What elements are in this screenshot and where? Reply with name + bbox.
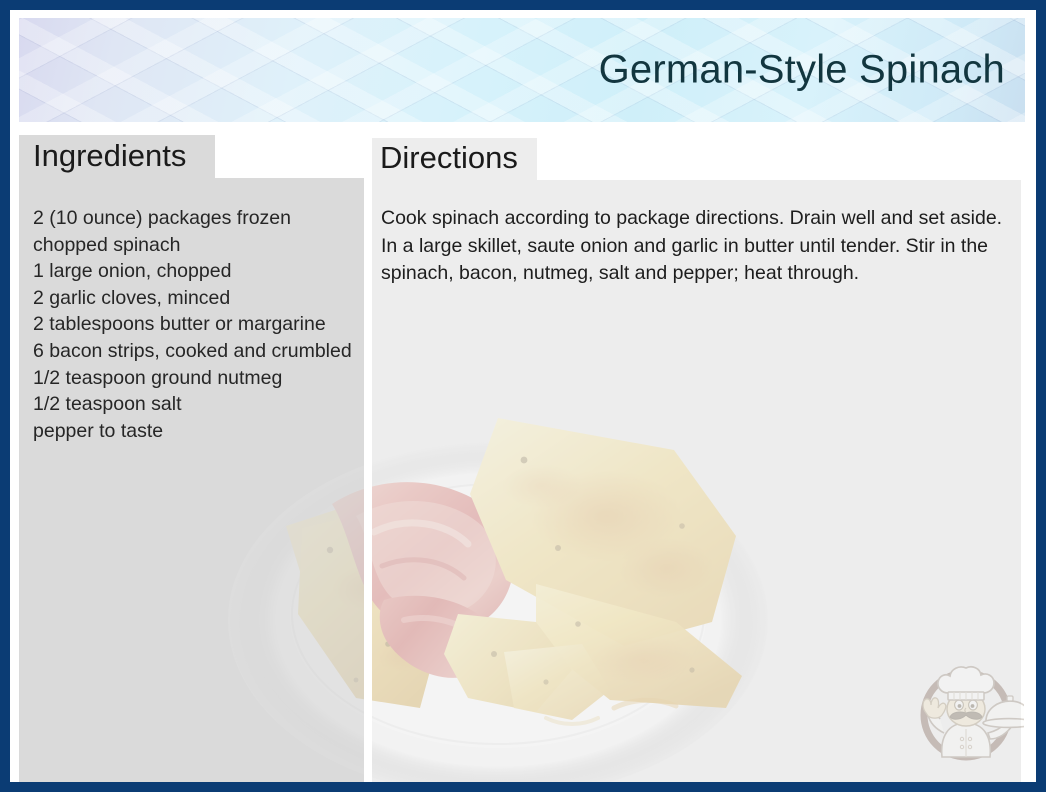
- ingredients-list: 2 (10 ounce) packages frozen chopped spi…: [33, 205, 361, 444]
- directions-body-text: Cook spinach according to package direct…: [381, 205, 1021, 288]
- directions-header-label: Directions: [380, 140, 518, 176]
- ingredient-item: pepper to taste: [33, 418, 361, 445]
- panel-divider: [364, 178, 372, 782]
- ingredient-item: 1 large onion, chopped: [33, 258, 361, 285]
- ingredients-header-box: Ingredients: [19, 135, 215, 178]
- ingredient-item: 2 (10 ounce) packages frozen chopped spi…: [33, 205, 361, 258]
- ingredient-item: 2 tablespoons butter or margarine: [33, 311, 361, 338]
- ingredient-item: 1/2 teaspoon salt: [33, 391, 361, 418]
- slide-inner-canvas: German-Style Spinach: [10, 10, 1036, 782]
- page-title: German-Style Spinach: [599, 48, 1005, 93]
- header-banner: German-Style Spinach: [19, 18, 1025, 122]
- recipe-slide: German-Style Spinach: [0, 0, 1046, 792]
- ingredient-item: 1/2 teaspoon ground nutmeg: [33, 365, 361, 392]
- directions-header-box: Directions: [372, 138, 537, 180]
- ingredients-header-label: Ingredients: [33, 138, 186, 174]
- ingredient-item: 6 bacon strips, cooked and crumbled: [33, 338, 361, 365]
- ingredient-item: 2 garlic cloves, minced: [33, 285, 361, 312]
